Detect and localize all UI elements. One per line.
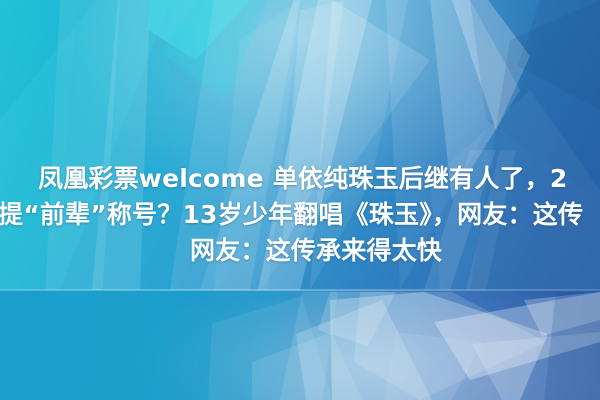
headline-block: 凤凰彩票welcome 单依纯珠玉后继有人了，2 提“前辈”称号？13岁少年翻唱… <box>0 150 600 280</box>
headline-line-3: 网友：这传承来得太快 <box>190 238 442 263</box>
bottom-band-sheen <box>0 290 600 400</box>
band-divider-line <box>0 289 600 291</box>
headline-line-2: 提“前辈”称号？13岁少年翻唱《珠玉》，网友：这传 <box>0 202 583 227</box>
banner-image: 凤凰彩票welcome 单依纯珠玉后继有人了，2 提“前辈”称号？13岁少年翻唱… <box>0 0 600 400</box>
headline-line-1: 凤凰彩票welcome 单依纯珠玉后继有人了，2 <box>38 166 568 191</box>
